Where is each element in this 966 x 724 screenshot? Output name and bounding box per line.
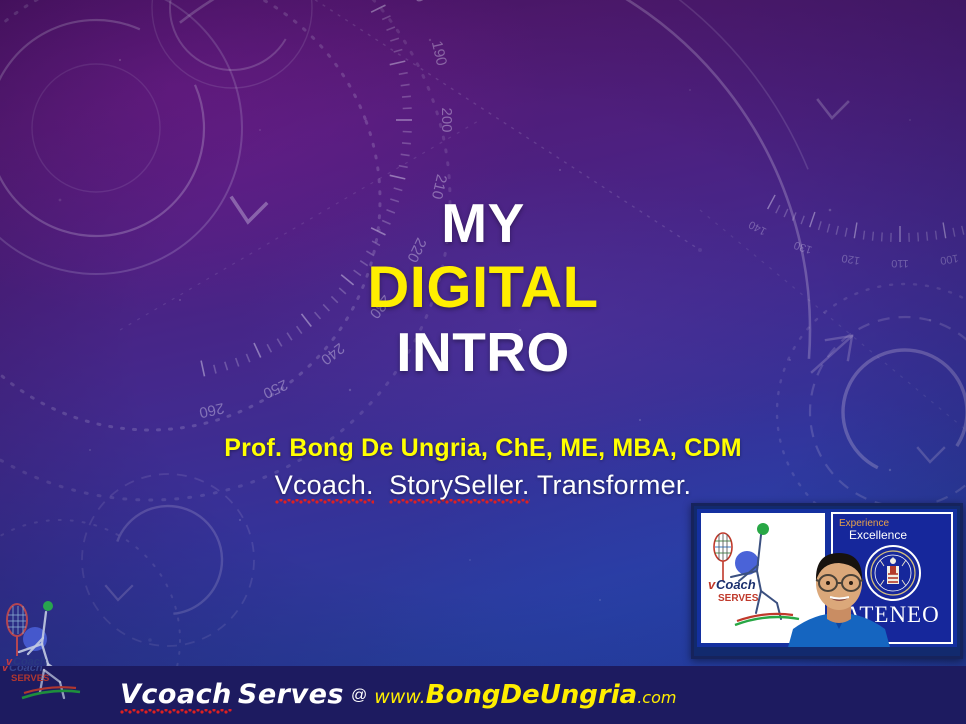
tagline-word-vcoach: Vcoach. xyxy=(275,470,374,504)
tennis-ball-icon xyxy=(43,601,53,611)
footer-watermark-overlap: v Coach SERVES xyxy=(0,666,110,702)
banner-line-excellence: Excellence xyxy=(849,528,907,542)
logo-brand-coach: Coach xyxy=(716,577,756,592)
logo-brand-serves: SERVES xyxy=(718,593,759,604)
footer-bar: v Coach SERVES VcoachServes@www.BongDeUn… xyxy=(0,666,966,724)
svg-text:200: 200 xyxy=(438,107,455,132)
subtitle-block: Prof. Bong De Ungria, ChE, ME, MBA, CDM … xyxy=(0,434,966,501)
tennis-ball-icon xyxy=(757,523,769,535)
footer-brand-serves: Serves xyxy=(238,679,344,710)
title-line-digital: DIGITAL xyxy=(0,259,966,317)
footer-url-tld: .com xyxy=(637,688,676,707)
footer-url-domain: BongDeUngria xyxy=(426,680,638,710)
svg-text:180: 180 xyxy=(403,0,429,5)
title-line-my: MY xyxy=(0,196,966,251)
svg-text:v: v xyxy=(2,666,9,674)
presenter-name-credentials: Prof. Bong De Ungria, ChE, ME, MBA, CDM xyxy=(0,434,966,463)
tagline-word-storyseller: StorySeller. xyxy=(389,470,529,504)
presentation-slide: 160170180190200210220230240250260 140130… xyxy=(0,0,966,724)
footer-branding: VcoachServes@www.BongDeUngria.com xyxy=(120,679,676,710)
video-frame: v Coach SERVES Experience Excellence xyxy=(697,509,957,647)
presenter-tagline: Vcoach. StorySeller. Transformer. xyxy=(0,470,966,501)
svg-text:260: 260 xyxy=(198,399,226,421)
presenter-avatar xyxy=(785,543,893,647)
footer-at-symbol: @ xyxy=(351,687,367,704)
title-line-intro: INTRO xyxy=(0,325,966,380)
tagline-word-transformer: Transformer. xyxy=(537,470,691,500)
webcam-video-panel[interactable]: v Coach SERVES Experience Excellence xyxy=(691,503,963,659)
svg-text:SERVES: SERVES xyxy=(11,673,49,684)
chevron-arrow-icon-2 xyxy=(818,100,848,118)
logo-brand-v: v xyxy=(708,577,716,592)
page-title: MY DIGITAL INTRO xyxy=(0,196,966,380)
footer-brand-vcoach: Vcoach xyxy=(120,679,232,714)
svg-text:190: 190 xyxy=(428,39,450,67)
footer-url-prefix: www. xyxy=(374,686,425,708)
